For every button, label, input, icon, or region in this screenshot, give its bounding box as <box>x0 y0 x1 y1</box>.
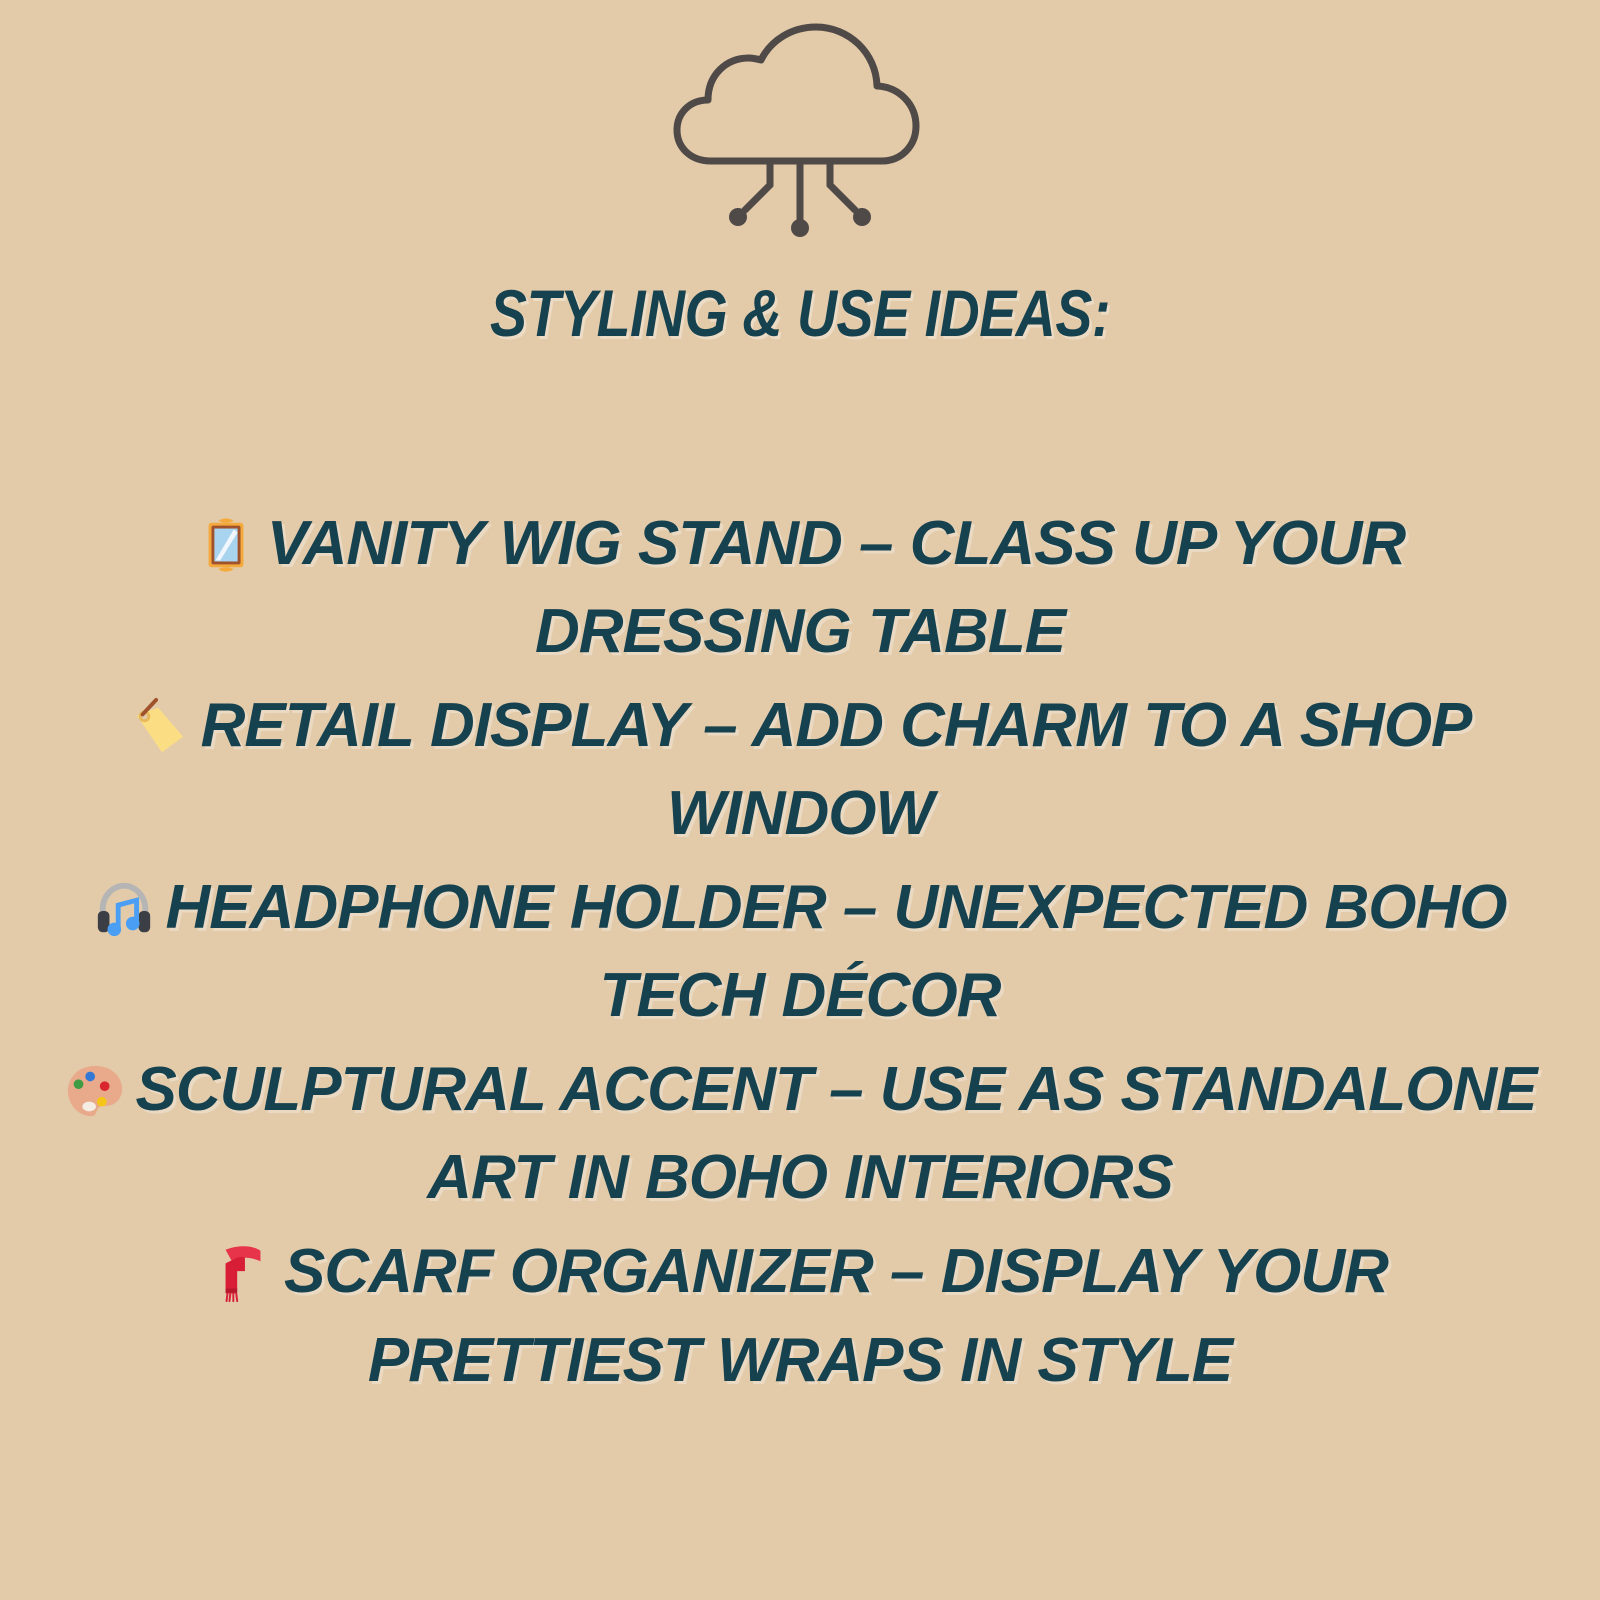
list-item-label: RETAIL DISPLAY – ADD CHARM TO A SHOP WIN… <box>201 691 1472 848</box>
list-item-label: HEADPHONE HOLDER – UNEXPECTED BOHO TECH … <box>165 873 1506 1030</box>
cloud-network-icon <box>650 13 950 253</box>
mirror-icon <box>195 514 257 576</box>
list-item-label: SCULPTURAL ACCENT – USE AS STANDALONE AR… <box>136 1055 1537 1212</box>
headphones-music-icon <box>93 878 155 940</box>
scarf-icon <box>212 1242 274 1304</box>
list-item: RETAIL DISPLAY – ADD CHARM TO A SHOP WIN… <box>60 682 1540 858</box>
styling-ideas-list: VANITY WIG STAND – CLASS UP YOUR DRESSIN… <box>60 500 1540 1410</box>
list-item: SCULPTURAL ACCENT – USE AS STANDALONE AR… <box>60 1046 1540 1222</box>
list-item: SCARF ORGANIZER – DISPLAY YOUR PRETTIEST… <box>60 1228 1540 1404</box>
artist-palette-icon <box>64 1060 126 1122</box>
list-item-label: SCARF ORGANIZER – DISPLAY YOUR PRETTIEST… <box>284 1237 1388 1394</box>
poster-canvas: STYLING & USE IDEAS: VANITY WIG STAND – … <box>0 0 1600 1600</box>
list-item-label: VANITY WIG STAND – CLASS UP YOUR DRESSIN… <box>267 509 1405 666</box>
page-title: STYLING & USE IDEAS: <box>490 280 1110 346</box>
list-item: VANITY WIG STAND – CLASS UP YOUR DRESSIN… <box>60 500 1540 676</box>
list-item: HEADPHONE HOLDER – UNEXPECTED BOHO TECH … <box>60 864 1540 1040</box>
brand-logo <box>640 8 960 258</box>
label-tag-icon <box>129 696 191 758</box>
